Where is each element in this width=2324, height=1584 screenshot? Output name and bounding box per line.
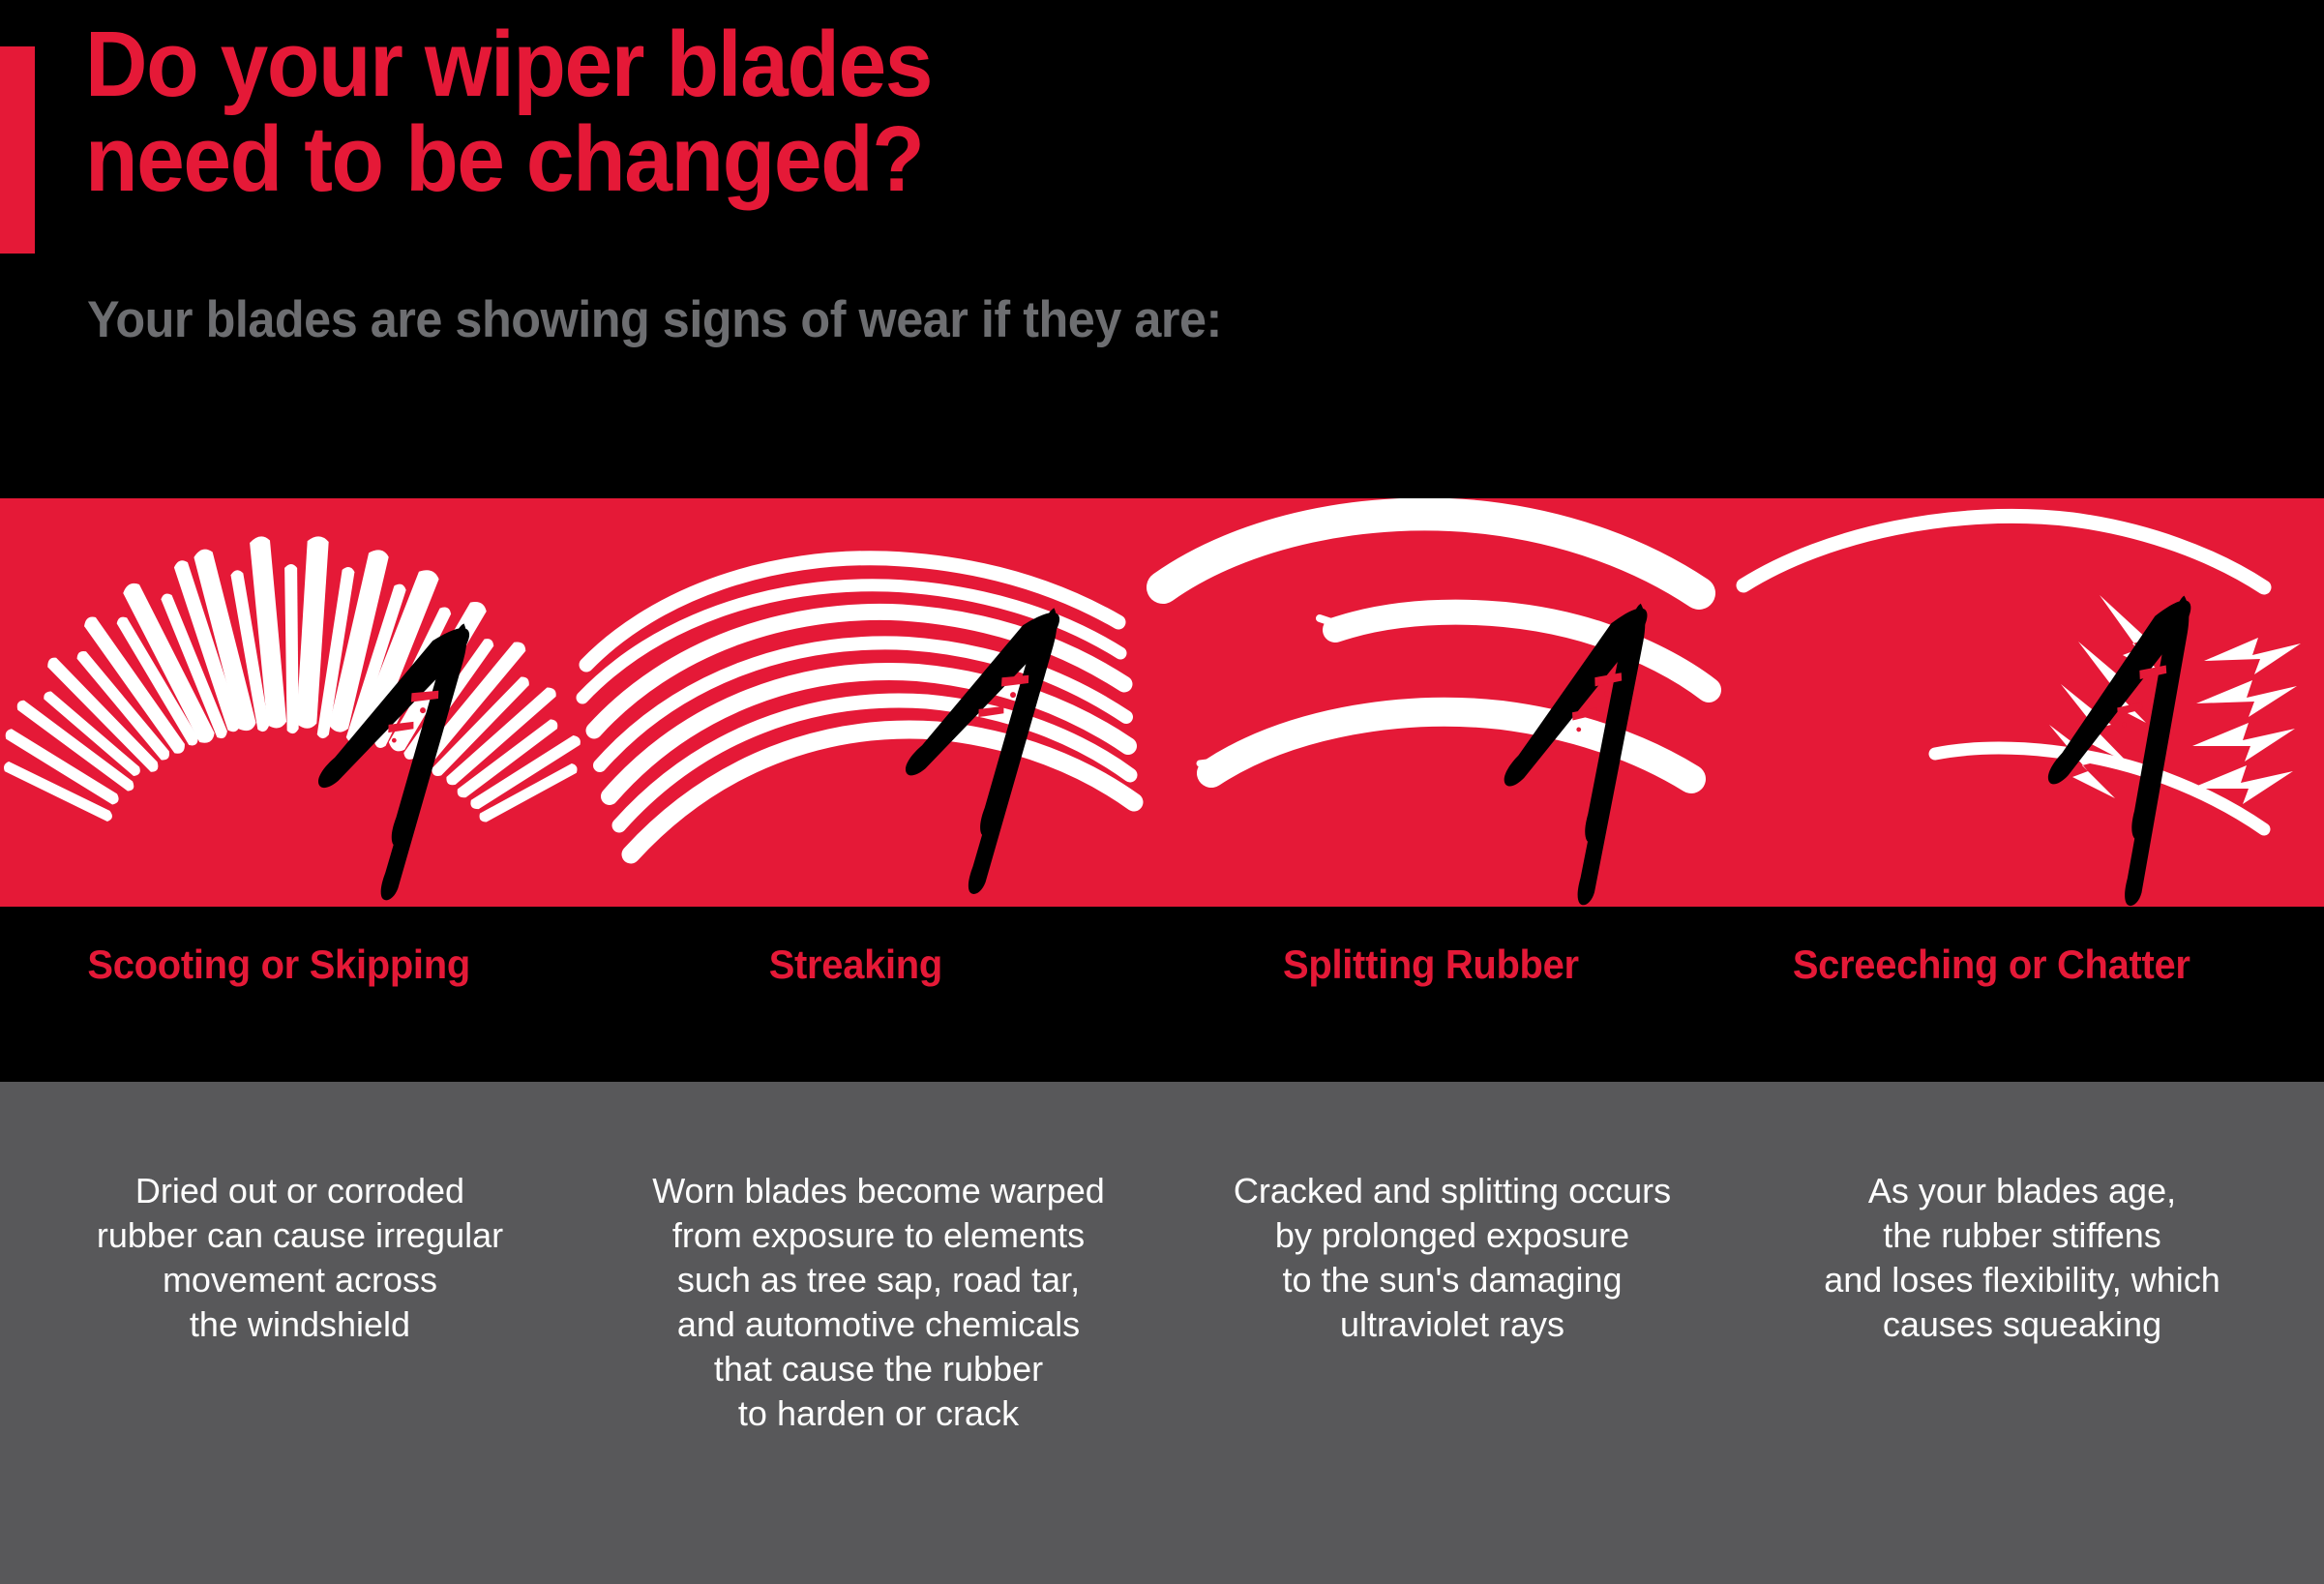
description-band: Dried out or corroded rubber can cause i… (0, 1082, 2324, 1584)
red-accent-bar (0, 46, 35, 254)
label-band: Scooting or Skipping Streaking Splitting… (0, 907, 2324, 1082)
page-subtitle: Your blades are showing signs of wear if… (87, 290, 1222, 349)
skipping-streaks-icon (0, 498, 581, 907)
page-title: Do your wiper blades need to be changed? (85, 17, 932, 207)
panel-label-streaking: Streaking (769, 941, 942, 988)
panel-art-screeching (1742, 498, 2324, 907)
wiper-blade-icon (2029, 578, 2194, 907)
panel-label-scooting: Scooting or Skipping (87, 941, 470, 988)
panel-art-splitting (1161, 498, 1742, 907)
panel-label-splitting: Splitting Rubber (1283, 941, 1579, 988)
streaking-arcs-icon (581, 498, 1161, 907)
panel-description-splitting: Cracked and splitting occurs by prolonge… (1177, 1169, 1728, 1347)
panel-description-screeching: As your blades age, the rubber stiffens … (1742, 1169, 2303, 1347)
infographic-page: Do your wiper blades need to be changed?… (0, 0, 2324, 1584)
panel-description-streaking: Worn blades become warped from exposure … (598, 1169, 1159, 1436)
screeching-lightning-icon (1742, 498, 2324, 907)
illustration-band (0, 498, 2324, 907)
panel-art-streaking (581, 498, 1161, 907)
header-section: Do your wiper blades need to be changed?… (0, 0, 2324, 498)
panel-label-screeching: Screeching or Chatter (1793, 941, 2190, 988)
splitting-arcs-icon (1161, 498, 1742, 907)
panel-art-scooting (0, 498, 581, 907)
lightning-bolt-group-right (2190, 638, 2301, 804)
panel-description-scooting: Dried out or corroded rubber can cause i… (29, 1169, 571, 1347)
